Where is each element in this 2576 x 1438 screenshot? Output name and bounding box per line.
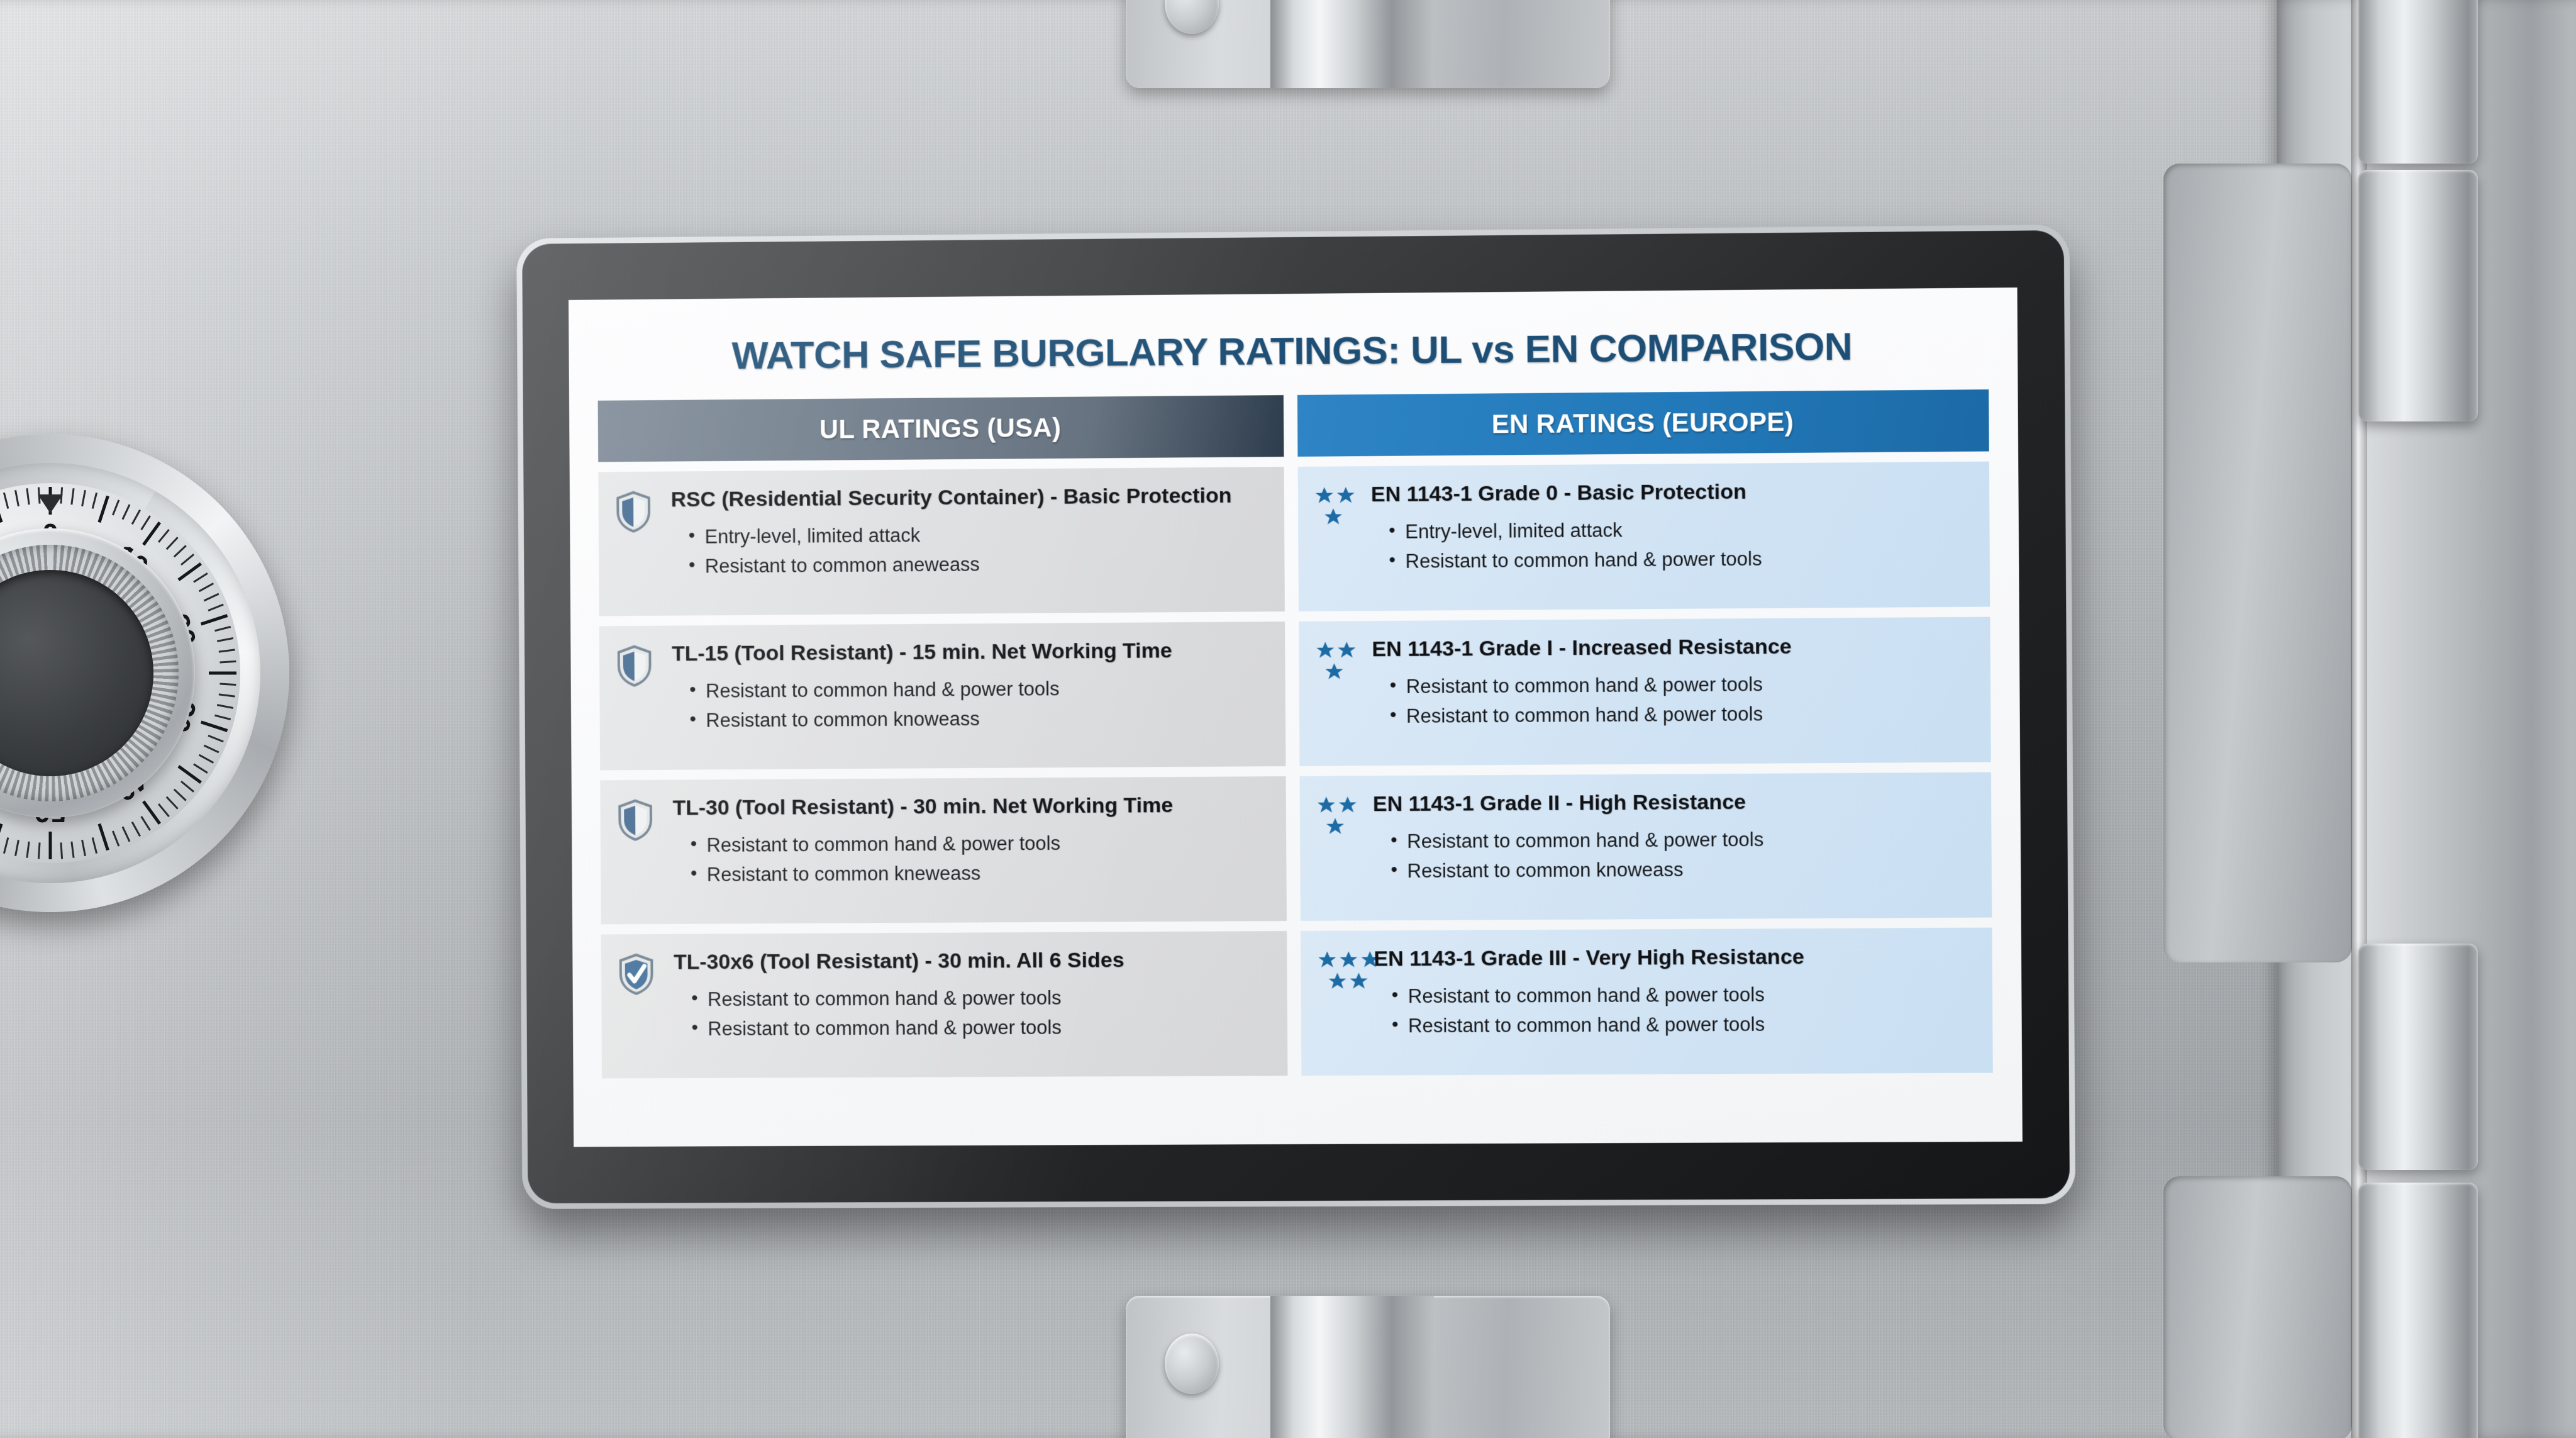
dial-tick [70,488,74,504]
dial-tick [199,754,214,764]
dial-tick [92,493,97,509]
list-item: Entry-level, limited attack [704,518,1268,551]
star-icon [1323,506,1343,527]
list-item: Resistant to common aneweass [705,547,1269,581]
row-bullets: Resistant to common hand & power tools R… [1374,979,1977,1041]
list-item: Resistant to common knoweass [1407,853,1975,886]
list-item: Resistant to common hand & power tools [1406,698,1974,731]
dial-tick [219,683,236,686]
row-bullets: Entry-level, limited attack Resistant to… [1371,513,1974,576]
dial-tick [3,493,9,509]
star-rating-3 [1316,794,1364,836]
dial-tick [217,704,233,709]
dial-tick [14,840,19,856]
list-item: Resistant to common kneweass [707,857,1270,889]
combination-dial[interactable]: 0102030405030 [0,434,289,912]
dial-tick [122,827,131,842]
row-body: EN 1143-1 Grade 0 - Basic Protection Ent… [1371,478,1974,577]
tablet-bezel: WATCH SAFE BURGLARY RATINGS: UL vs EN CO… [522,230,2070,1203]
row-title: RSC (Residential Security Container) - B… [671,483,1268,512]
star-icon [1324,661,1344,681]
hinge-recess [2163,1176,2352,1438]
dial-tick [204,745,219,754]
dial-tick [201,614,228,625]
star-icon [1336,485,1356,505]
stars-icon [1315,637,1360,681]
dial-tick [201,720,228,732]
safe-hinge-column [2277,0,2576,1438]
dial-tick [193,763,208,773]
row-body: TL-30 (Tool Resistant) - 30 min. Net Wor… [673,793,1270,889]
row-bullets: Resistant to common hand & power tools R… [1373,823,1975,886]
row-title: EN 1143-1 Grade III - Very High Resistan… [1374,944,1975,972]
shield-icon [616,642,661,688]
dial-tick [92,837,97,854]
table-row[interactable]: EN 1143-1 Grade II - High Resistance Res… [1300,772,1992,921]
dial-tick [158,529,170,543]
hinge-knuckle [2358,0,2478,164]
dial-tick [217,637,233,642]
star-icon [1325,817,1345,837]
stars-icon [1317,947,1362,991]
dial-tick [180,554,194,566]
dial-tick [209,672,236,675]
top-bolt-bracket [1126,0,1610,88]
dial-tick [193,572,208,582]
dial-tick [122,504,131,520]
dial-tick [49,832,52,859]
dial-tick [14,490,19,506]
hinge-knuckle [2358,1183,2478,1438]
dial-pointer-icon [38,494,63,513]
bolt-cylinder [1270,0,1434,88]
dial-tick [26,842,30,858]
shield-check-icon [618,950,663,996]
list-item: Resistant to common hand & power tools [1407,823,1975,856]
column-header-en: EN RATINGS (EUROPE) [1297,389,1989,457]
shield-icon [616,796,662,842]
dial-tick [112,830,119,846]
bottom-bolt-bracket [1126,1296,1610,1438]
row-title: TL-30 (Tool Resistant) - 30 min. Net Wor… [673,793,1270,820]
dial-tick [60,842,63,859]
dial-tick [199,582,214,592]
bolt-head-icon [1165,0,1219,34]
dial-tick [208,604,223,611]
dial-tick [174,545,187,557]
bolt-cylinder [1270,1296,1434,1438]
comparison-grid: UL RATINGS (USA) RSC (Residential Securi… [598,389,1993,1078]
page-title: WATCH SAFE BURGLARY RATINGS: UL vs EN CO… [597,323,1989,379]
star-icon [1314,485,1335,505]
dial-tick [70,842,74,858]
column-ul: UL RATINGS (USA) RSC (Residential Securi… [598,395,1288,1078]
dial-tick [174,789,187,801]
dial-tick [81,840,86,856]
bolt-head-icon [1165,1334,1219,1394]
row-body: EN 1143-1 Grade I - Increased Resistance… [1372,633,1974,732]
list-item: Resistant to common hand & power tools [706,827,1270,860]
dial-tick [219,660,236,664]
row-body: EN 1143-1 Grade III - Very High Resistan… [1374,944,1976,1041]
star-rating-3 [1314,485,1362,527]
dial-tick [97,496,109,523]
list-item: Resistant to common hand & power tools [706,672,1269,706]
dial-tick [208,735,223,742]
table-row[interactable]: TL-15 (Tool Resistant) - 15 min. Net Wor… [599,621,1286,770]
row-body: RSC (Residential Security Container) - B… [671,483,1269,581]
list-item: Entry-level, limited attack [1405,513,1973,547]
row-title: TL-30x6 (Tool Resistant) - 30 min. All 6… [674,947,1270,974]
dial-tick [158,803,170,817]
dial-tick [0,823,3,850]
row-bullets: Resistant to common hand & power tools R… [1372,668,1975,731]
row-title: TL-15 (Tool Resistant) - 15 min. Net Wor… [672,638,1269,666]
list-item: Resistant to common hand & power tools [1406,668,1974,701]
row-bullets: Resistant to common hand & power tools R… [673,827,1270,889]
dial-tick [214,626,231,632]
star-icon [1316,795,1336,815]
dial-tick [3,837,9,854]
dial-tick [166,796,179,810]
star-icon [1338,950,1358,970]
shield-icon [614,488,660,533]
row-title: EN 1143-1 Grade I - Increased Resistance [1372,633,1974,662]
row-body: TL-15 (Tool Resistant) - 15 min. Net Wor… [672,638,1269,735]
stars-icon [1316,792,1362,836]
dial-tick [219,649,235,652]
hinge-knuckle [2358,944,2478,1170]
list-item: Resistant to common hand & power tools [1408,1008,1976,1040]
stars-icon [1314,482,1360,527]
star-icon [1315,640,1335,660]
dial-tick [180,781,194,793]
row-bullets: Resistant to common hand & power tools R… [674,982,1271,1044]
column-header-ul: UL RATINGS (USA) [598,395,1284,462]
dial-tick [112,499,119,515]
star-icon [1317,950,1337,970]
hinge-recess [2163,164,2352,962]
dial-tick [97,823,109,850]
row-title: EN 1143-1 Grade II - High Resistance [1373,789,1975,817]
dial-tick [214,715,231,720]
list-item: Resistant to common hand & power tools [708,982,1271,1014]
star-icon [1348,971,1368,991]
table-row[interactable]: EN 1143-1 Grade 0 - Basic Protection Ent… [1298,462,1990,611]
star-icon [1338,794,1358,815]
dial-tick [131,822,141,837]
dial-tick [140,816,150,831]
table-row[interactable]: EN 1143-1 Grade I - Increased Resistance… [1299,617,1991,766]
dial-tick [26,488,30,504]
list-item: Resistant to common hand & power tools [1408,979,1976,1011]
star-rating-3 [1315,640,1363,682]
dial-tick [204,593,219,602]
dial-tick [38,842,41,859]
tablet-screen[interactable]: WATCH SAFE BURGLARY RATINGS: UL vs EN CO… [569,287,2023,1147]
table-row[interactable]: TL-30x6 (Tool Resistant) - 30 min. All 6… [601,931,1288,1078]
dial-tick [140,515,150,530]
star-icon [1336,640,1357,660]
list-item: Resistant to common hand & power tools [708,1012,1271,1044]
table-row[interactable]: TL-30 (Tool Resistant) - 30 min. Net Wor… [600,776,1287,924]
row-body: EN 1143-1 Grade II - High Resistance Res… [1373,789,1975,886]
star-icon [1327,971,1347,991]
row-bullets: Entry-level, limited attack Resistant to… [671,518,1269,581]
dial-tick [166,537,179,550]
star-rating-5 [1317,949,1380,991]
dial-tick [219,693,235,697]
column-en: EN RATINGS (EUROPE) EN 1143-1 Grade 0 - … [1297,389,1993,1076]
dial-tick [0,496,3,523]
list-item: Resistant to common knoweass [706,702,1269,735]
row-body: TL-30x6 (Tool Resistant) - 30 min. All 6… [674,947,1271,1044]
row-title: EN 1143-1 Grade 0 - Basic Protection [1371,478,1973,507]
hinge-knuckle [2358,170,2478,421]
tablet-device: WATCH SAFE BURGLARY RATINGS: UL vs EN CO… [516,225,2075,1209]
dial-tick [81,490,86,506]
table-row[interactable]: RSC (Residential Security Container) - B… [598,467,1285,616]
row-bullets: Resistant to common hand & power tools R… [672,672,1269,735]
list-item: Resistant to common hand & power tools [1405,542,1973,576]
table-row[interactable]: EN 1143-1 Grade III - Very High Resistan… [1301,928,1993,1076]
dial-tick [131,510,141,525]
